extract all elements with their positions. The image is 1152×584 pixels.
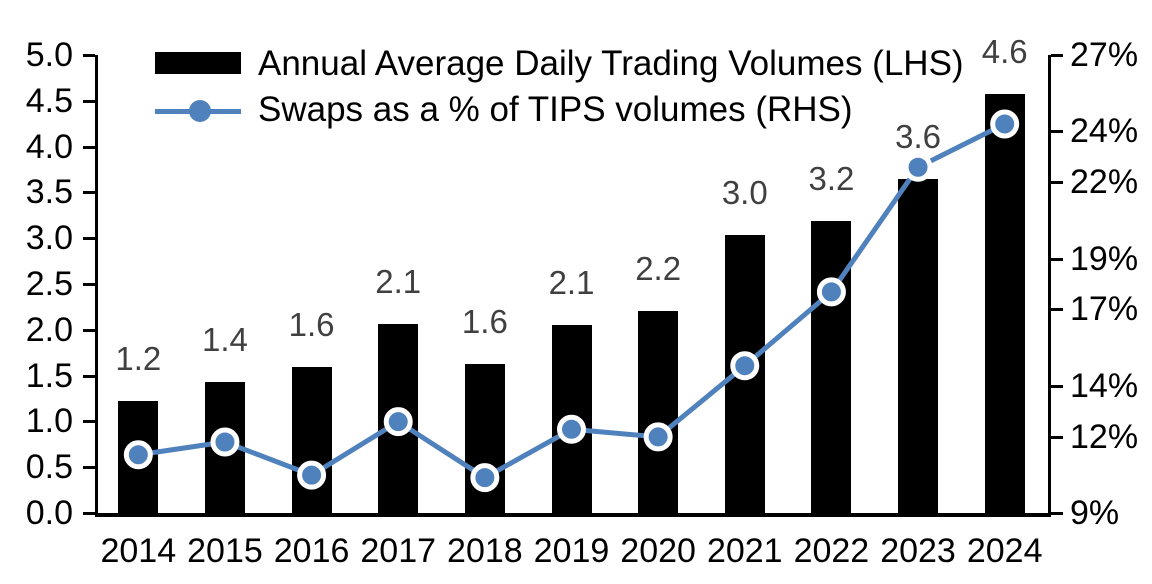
left-tick-label: 0.0 bbox=[0, 496, 73, 530]
left-tick bbox=[83, 237, 95, 240]
line-marker[interactable] bbox=[993, 112, 1017, 136]
left-tick-label: 5.0 bbox=[0, 38, 73, 72]
line-marker[interactable] bbox=[733, 354, 757, 378]
category-label: 2024 bbox=[935, 534, 1075, 568]
right-tick-label: 17% bbox=[1070, 292, 1138, 326]
right-tick bbox=[1051, 385, 1063, 388]
left-tick-label: 3.5 bbox=[0, 175, 73, 209]
bar-data-label: 1.6 bbox=[425, 305, 545, 338]
right-tick bbox=[1051, 308, 1063, 311]
line-marker[interactable] bbox=[386, 410, 410, 434]
right-tick-label: 12% bbox=[1070, 420, 1138, 454]
right-tick bbox=[1051, 130, 1063, 133]
right-tick-label: 9% bbox=[1070, 496, 1119, 530]
left-tick-label: 1.0 bbox=[0, 404, 73, 438]
bar-data-label: 3.6 bbox=[858, 120, 978, 153]
line-marker[interactable] bbox=[819, 280, 843, 304]
right-tick bbox=[1051, 258, 1063, 261]
bar-data-label: 1.6 bbox=[252, 308, 372, 341]
left-tick bbox=[83, 146, 95, 149]
right-tick-label: 19% bbox=[1070, 242, 1138, 276]
line-marker[interactable] bbox=[126, 443, 150, 467]
left-tick-label: 4.5 bbox=[0, 84, 73, 118]
legend-marker-icon bbox=[189, 100, 211, 122]
left-tick bbox=[83, 191, 95, 194]
left-tick-label: 1.5 bbox=[0, 359, 73, 393]
left-tick-label: 0.5 bbox=[0, 450, 73, 484]
line-marker[interactable] bbox=[646, 425, 670, 449]
bar-data-label: 2.1 bbox=[338, 265, 458, 298]
left-tick bbox=[83, 329, 95, 332]
right-tick bbox=[1051, 512, 1063, 515]
bar-data-label: 2.2 bbox=[598, 252, 718, 285]
left-tick-label: 3.0 bbox=[0, 221, 73, 255]
category-axis-line bbox=[95, 513, 1051, 517]
line-marker[interactable] bbox=[213, 430, 237, 454]
left-tick bbox=[83, 283, 95, 286]
right-tick-label: 24% bbox=[1070, 114, 1138, 148]
left-tick bbox=[83, 466, 95, 469]
line-marker[interactable] bbox=[560, 417, 584, 441]
left-tick-label: 4.0 bbox=[0, 130, 73, 164]
line-marker[interactable] bbox=[473, 466, 497, 490]
right-tick-label: 27% bbox=[1070, 38, 1138, 72]
line-marker[interactable] bbox=[906, 155, 930, 179]
line-marker[interactable] bbox=[300, 463, 324, 487]
right-tick-label: 22% bbox=[1070, 165, 1138, 199]
left-tick-label: 2.0 bbox=[0, 313, 73, 347]
right-axis-line bbox=[1048, 55, 1051, 516]
left-tick bbox=[83, 420, 95, 423]
legend-label-line: Swaps as a % of TIPS volumes (RHS) bbox=[258, 88, 853, 132]
right-tick bbox=[1051, 436, 1063, 439]
left-tick bbox=[83, 54, 95, 57]
chart-root: 0.00.51.01.52.02.53.03.54.04.55.0 9%12%1… bbox=[0, 0, 1152, 584]
legend-label-bars: Annual Average Daily Trading Volumes (LH… bbox=[258, 42, 964, 86]
right-tick-label: 14% bbox=[1070, 369, 1138, 403]
legend-bar-swatch-icon bbox=[155, 52, 241, 74]
bar-data-label: 3.2 bbox=[771, 162, 891, 195]
left-tick bbox=[83, 100, 95, 103]
left-tick bbox=[83, 512, 95, 515]
left-tick-label: 2.5 bbox=[0, 267, 73, 301]
right-tick bbox=[1051, 181, 1063, 184]
